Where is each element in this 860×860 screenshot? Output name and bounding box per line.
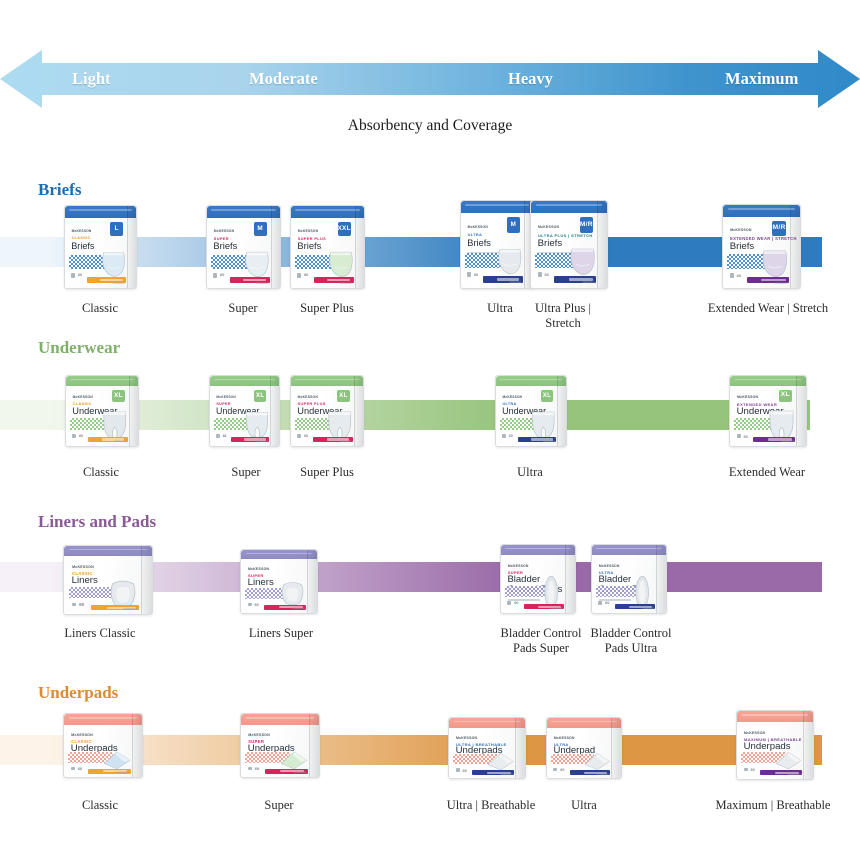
brand-name: McKESSON [744, 731, 765, 735]
package-icon-chip [248, 767, 252, 771]
brand-name: McKESSON [456, 736, 477, 740]
package-cap [64, 714, 142, 725]
package-icons-row: 60 [553, 768, 564, 772]
package-body: McKESSONMAXIMUM | BREATHABLEUnderpads 60… [736, 710, 814, 780]
package-side-panel [515, 718, 525, 778]
package-code-text: mckesson [500, 772, 513, 776]
package-count-text: 60 [463, 768, 467, 773]
absorbency-comparison-chart: Light Moderate Heavy Maximum Absorbency … [0, 0, 860, 860]
package-code-text: mckesson [293, 770, 306, 774]
product-caption: Ultra [509, 798, 659, 813]
package-icon-chip [744, 768, 748, 772]
package-body: McKESSONCLASSICUnderpads 60mckesson [63, 713, 143, 778]
product-caption: Super [204, 798, 354, 813]
section-underpads: UnderpadsMcKESSONCLASSICUnderpads 60mcke… [0, 0, 860, 860]
product-package[interactable]: McKESSONMAXIMUM | BREATHABLEUnderpads 60… [736, 710, 814, 780]
package-code-text: mckesson [788, 772, 801, 776]
package-cap [449, 718, 525, 728]
product-caption: Classic [25, 798, 175, 813]
product-package[interactable]: McKESSONULTRAUnderpad 60mckesson [546, 717, 622, 779]
package-side-panel [611, 718, 621, 778]
package-side-panel [132, 714, 142, 777]
package-side-panel [309, 714, 319, 777]
product-package[interactable]: McKESSONCLASSICUnderpads 60mckesson [63, 713, 143, 778]
package-icons-row: 60 [248, 766, 259, 771]
package-icons-row: 60 [456, 768, 467, 773]
section-title-underpads: Underpads [38, 683, 118, 703]
brand-name: McKESSON [71, 733, 93, 737]
package-cap [547, 718, 621, 728]
brand-name: McKESSON [554, 736, 575, 740]
package-body: McKESSONSUPERUnderpads 60mckesson [240, 713, 320, 778]
package-count-text: 60 [560, 768, 564, 772]
package-icon-chip [553, 768, 557, 771]
package-body: McKESSONULTRAUnderpad 60mckesson [546, 717, 622, 779]
brand-name: McKESSON [248, 733, 270, 737]
package-icons-row: 60 [744, 767, 755, 772]
package-icons-row: 60 [71, 766, 82, 771]
product-package[interactable]: McKESSONULTRA | BREATHABLEUnderpads 60mc… [448, 717, 526, 779]
package-count-text: 60 [78, 766, 82, 771]
package-icon-chip [456, 768, 460, 771]
package-icon-chip [71, 767, 75, 771]
package-count-text: 60 [751, 767, 755, 772]
package-code-text: mckesson [116, 770, 129, 774]
package-side-panel [803, 711, 813, 779]
package-cap [737, 711, 813, 722]
product-caption: Maximum | Breathable [698, 798, 848, 813]
package-body: McKESSONULTRA | BREATHABLEUnderpads 60mc… [448, 717, 526, 779]
package-count-text: 60 [255, 766, 259, 771]
product-package[interactable]: McKESSONSUPERUnderpads 60mckesson [240, 713, 320, 778]
package-cap [241, 714, 319, 725]
package-code-text: mckesson [597, 773, 609, 776]
